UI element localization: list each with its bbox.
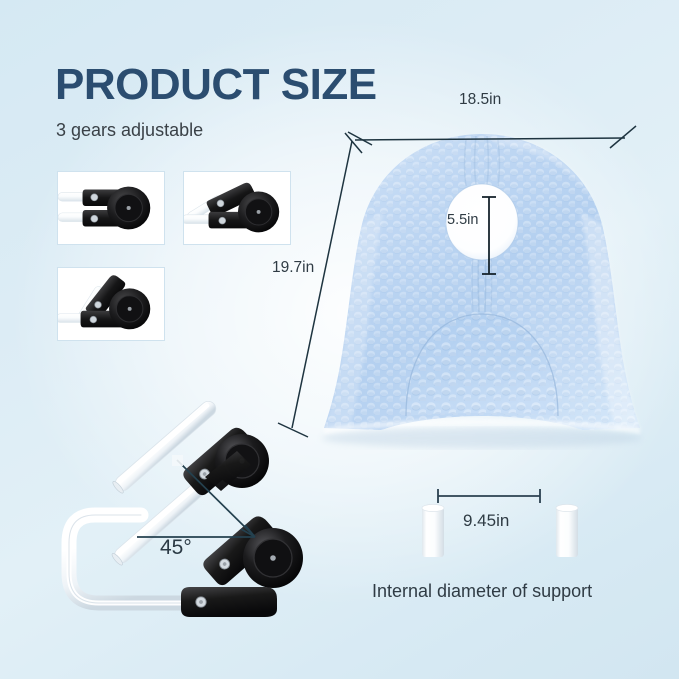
angle-label: 45° bbox=[160, 536, 192, 560]
hinge-closed-icon bbox=[58, 172, 164, 244]
bracket-illustration bbox=[55, 355, 330, 630]
nursing-pillow-image bbox=[276, 116, 676, 456]
product-size-infographic: PRODUCT SIZE 3 gears adjustable bbox=[0, 0, 679, 679]
gear-thumbnail-1[interactable] bbox=[57, 171, 165, 245]
dimension-width-label: 18.5in bbox=[459, 91, 501, 109]
hinge-mid-icon bbox=[184, 172, 290, 244]
gear-thumbnail-2[interactable] bbox=[183, 171, 291, 245]
hinge-open-icon bbox=[58, 268, 164, 340]
dimension-support-label: 9.45in bbox=[463, 511, 509, 531]
support-caption: Internal diameter of support bbox=[372, 581, 592, 602]
pillow-illustration bbox=[276, 116, 676, 456]
support-bracket-image bbox=[55, 355, 330, 630]
dimension-hole-label: 5.5in bbox=[447, 212, 478, 228]
gear-thumbnail-3[interactable] bbox=[57, 267, 165, 341]
page-title: PRODUCT SIZE bbox=[55, 63, 377, 107]
page-subtitle: 3 gears adjustable bbox=[56, 120, 203, 141]
dimension-height-label: 19.7in bbox=[272, 259, 314, 277]
